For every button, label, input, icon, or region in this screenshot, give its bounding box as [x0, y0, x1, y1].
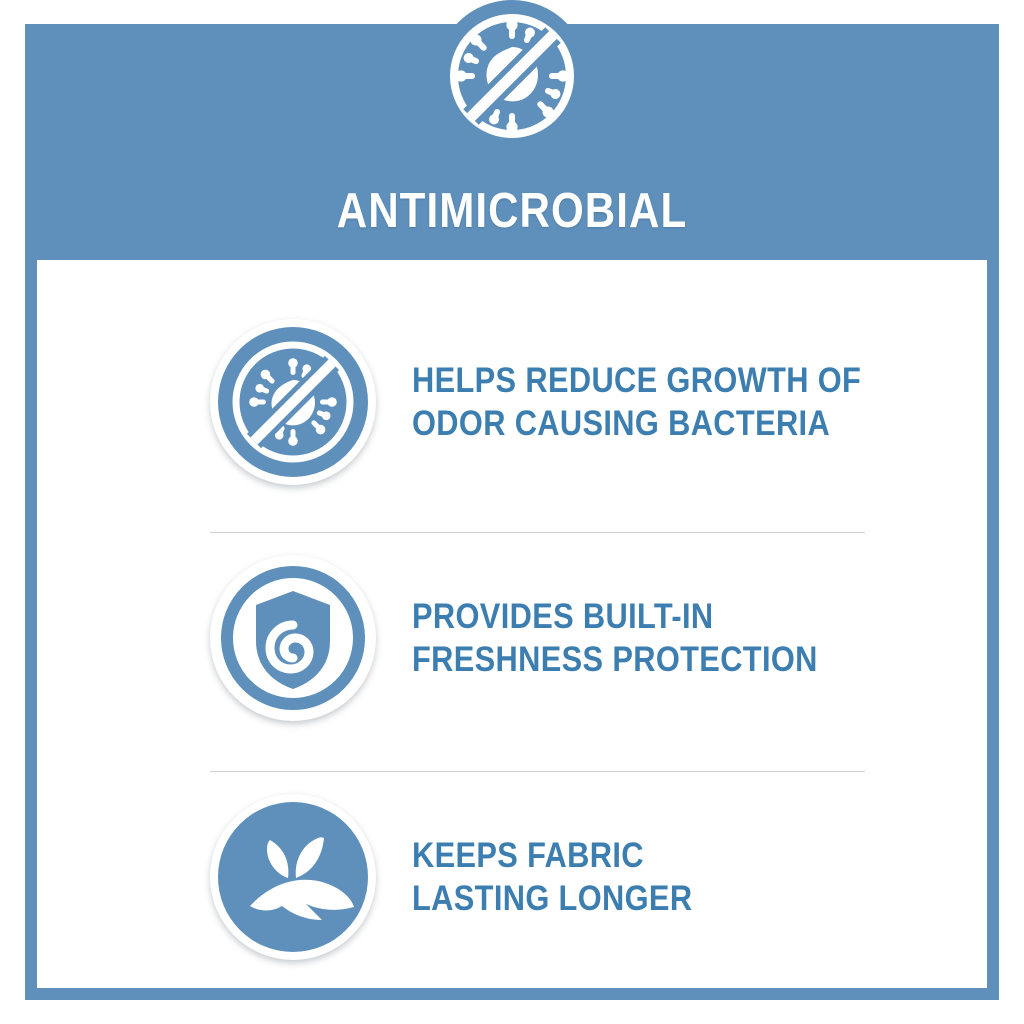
benefit-row: HELPS REDUCE GROWTH OF ODOR CAUSING BACT…	[210, 312, 910, 492]
row-divider	[210, 771, 865, 772]
benefit-text: HELPS REDUCE GROWTH OF ODOR CAUSING BACT…	[412, 359, 861, 445]
benefits-card: HELPS REDUCE GROWTH OF ODOR CAUSING BACT…	[37, 260, 987, 988]
no-germ-icon	[436, 0, 588, 152]
benefit-text: KEEPS FABRIC LASTING LONGER	[412, 834, 850, 920]
benefits-list: HELPS REDUCE GROWTH OF ODOR CAUSING BACT…	[37, 260, 987, 988]
benefit-line-1: KEEPS FABRIC	[412, 834, 850, 877]
benefit-text: PROVIDES BUILT-IN FRESHNESS PROTECTION	[412, 595, 850, 681]
leaf-sprout-icon	[210, 794, 376, 960]
benefit-line-1: HELPS REDUCE GROWTH OF	[412, 359, 861, 402]
antimicrobial-infographic: ANTIMICROBIAL	[0, 0, 1024, 1024]
row-divider	[210, 532, 865, 533]
page-title: ANTIMICROBIAL	[93, 184, 931, 238]
header-band: ANTIMICROBIAL	[25, 24, 999, 260]
no-germ-circle-icon	[210, 319, 376, 485]
benefit-row: KEEPS FABRIC LASTING LONGER	[210, 787, 910, 967]
benefit-line-1: PROVIDES BUILT-IN	[412, 595, 850, 638]
benefit-row: PROVIDES BUILT-IN FRESHNESS PROTECTION	[210, 548, 910, 728]
benefit-line-2: ODOR CAUSING BACTERIA	[412, 402, 861, 445]
benefit-line-2: FRESHNESS PROTECTION	[412, 638, 850, 681]
benefit-line-2: LASTING LONGER	[412, 877, 850, 920]
shield-swirl-icon	[210, 555, 376, 721]
blue-frame-panel: ANTIMICROBIAL	[25, 24, 999, 1000]
